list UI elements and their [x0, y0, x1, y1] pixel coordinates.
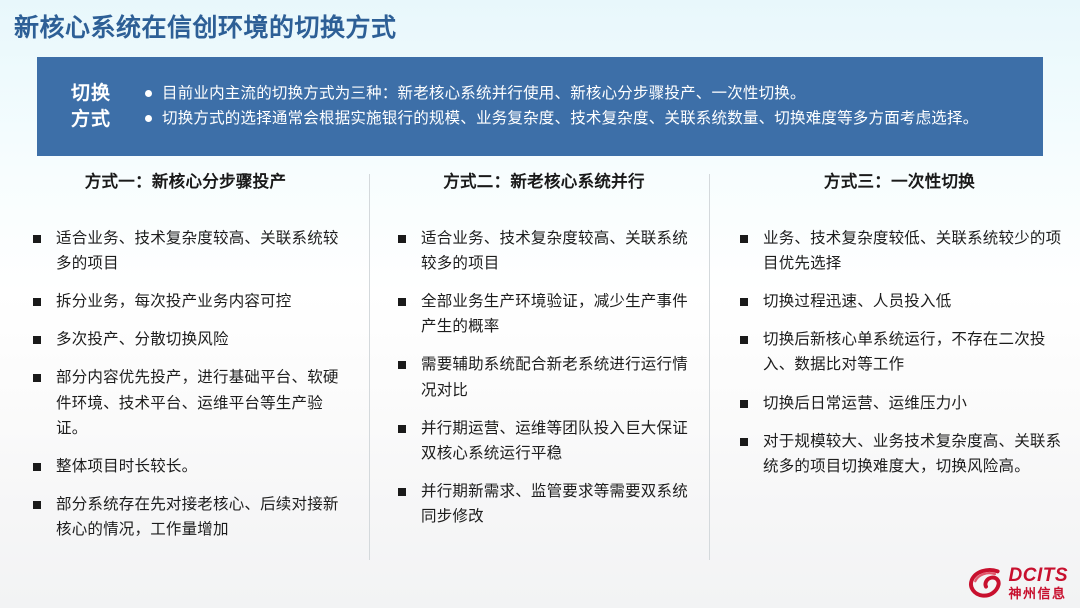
- list-item: 部分系统存在先对接老核心、后续对接新核心的情况，工作量增加: [30, 492, 345, 542]
- list-item: 切换过程迅速、人员投入低: [737, 289, 1062, 314]
- column-method-three: 方式三：一次性切换 业务、技术复杂度较低、关联系统较少的项目优先选择 切换过程迅…: [709, 168, 1080, 568]
- list-item: 切换后新核心单系统运行，不存在二次投入、数据比对等工作: [737, 327, 1062, 377]
- comparison-columns: 方式一：新核心分步骤投产 适合业务、技术复杂度较高、关联系统较多的项目 拆分业务…: [0, 168, 1080, 568]
- list-item: 拆分业务，每次投产业务内容可控: [30, 289, 345, 314]
- switch-method-banner: 切换 方式 目前业内主流的切换方式为三种：新老核心系统并行使用、新核心分步骤投产…: [37, 57, 1043, 156]
- column-header: 方式三：一次性切换: [737, 168, 1062, 192]
- column-method-two: 方式二：新老核心系统并行 适合业务、技术复杂度较高、关联系统较多的项目 全部业务…: [369, 168, 709, 568]
- page-title: 新核心系统在信创环境的切换方式: [14, 8, 397, 44]
- list-item: 切换后日常运营、运维压力小: [737, 391, 1062, 416]
- logo-name-en: DCITS: [1009, 566, 1069, 585]
- banner-label: 切换 方式: [37, 81, 139, 132]
- list-item: 多次投产、分散切换风险: [30, 327, 345, 352]
- banner-bullet-item: 目前业内主流的切换方式为三种：新老核心系统并行使用、新核心分步骤投产、一次性切换…: [143, 82, 1025, 106]
- company-logo: DCITS 神州信息: [968, 566, 1069, 600]
- banner-bullet-item: 切换方式的选择通常会根据实施银行的规模、业务复杂度、技术复杂度、关联系统数量、切…: [143, 107, 1025, 131]
- bullet-list: 业务、技术复杂度较低、关联系统较少的项目优先选择 切换过程迅速、人员投入低 切换…: [737, 226, 1062, 479]
- list-item: 需要辅助系统配合新老系统进行运行情况对比: [395, 352, 693, 402]
- banner-bullet-list: 目前业内主流的切换方式为三种：新老核心系统并行使用、新核心分步骤投产、一次性切换…: [139, 81, 1043, 131]
- banner-label-line1: 切换: [43, 81, 139, 107]
- column-header: 方式二：新老核心系统并行: [395, 168, 693, 192]
- list-item: 部分内容优先投产，进行基础平台、软硬件环境、技术平台、运维平台等生产验证。: [30, 365, 345, 440]
- banner-label-line2: 方式: [43, 107, 139, 133]
- list-item: 并行期新需求、监管要求等需要双系统同步修改: [395, 479, 693, 529]
- column-method-one: 方式一：新核心分步骤投产 适合业务、技术复杂度较高、关联系统较多的项目 拆分业务…: [0, 168, 369, 568]
- list-item: 适合业务、技术复杂度较高、关联系统较多的项目: [30, 226, 345, 276]
- logo-text: DCITS 神州信息: [1009, 566, 1069, 600]
- dcits-swirl-icon: [968, 566, 1004, 600]
- bullet-list: 适合业务、技术复杂度较高、关联系统较多的项目 拆分业务，每次投产业务内容可控 多…: [30, 226, 345, 542]
- list-item: 并行期运营、运维等团队投入巨大保证双核心系统运行平稳: [395, 416, 693, 466]
- list-item: 对于规模较大、业务技术复杂度高、关联系统多的项目切换难度大，切换风险高。: [737, 429, 1062, 479]
- list-item: 整体项目时长较长。: [30, 454, 345, 479]
- list-item: 全部业务生产环境验证，减少生产事件产生的概率: [395, 289, 693, 339]
- bullet-list: 适合业务、技术复杂度较高、关联系统较多的项目 全部业务生产环境验证，减少生产事件…: [395, 226, 693, 529]
- list-item: 业务、技术复杂度较低、关联系统较少的项目优先选择: [737, 226, 1062, 276]
- list-item: 适合业务、技术复杂度较高、关联系统较多的项目: [395, 226, 693, 276]
- logo-name-cn: 神州信息: [1009, 587, 1069, 600]
- column-header: 方式一：新核心分步骤投产: [30, 168, 345, 192]
